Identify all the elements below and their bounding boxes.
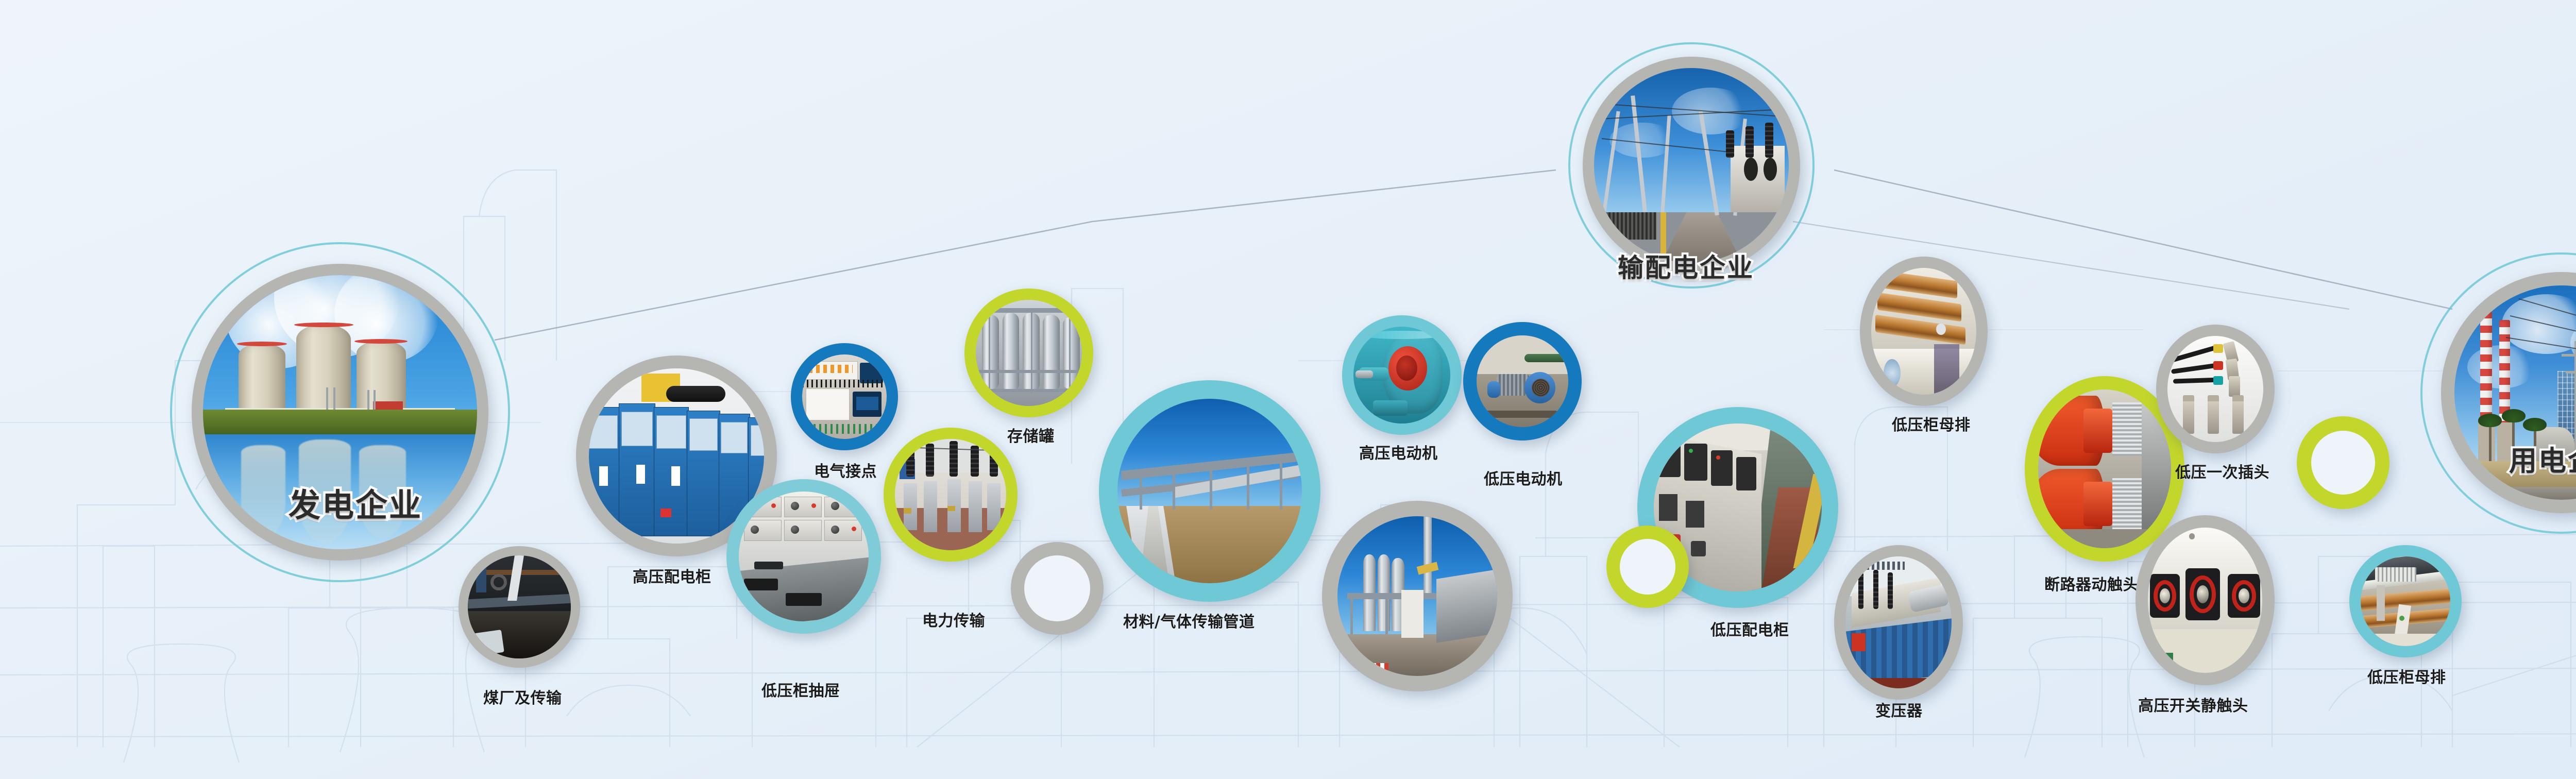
hub-transmission-photo xyxy=(1594,68,1789,263)
node-lv-drawer-photo xyxy=(739,492,869,621)
node-transformer-label: 变压器 xyxy=(1875,698,1923,721)
decor-ring-lime-1-hole xyxy=(1620,539,1675,595)
node-hv-motor-photo xyxy=(1353,327,1450,424)
node-lv-drawer-label: 低压柜抽屉 xyxy=(761,678,840,701)
node-power-transmission-label: 电力传输 xyxy=(922,608,985,631)
node-lv-primary-plug-label: 低压一次插头 xyxy=(2175,460,2269,482)
hub-generation-label: 发电企业 xyxy=(289,479,422,526)
node-power-transmission[interactable] xyxy=(884,428,1018,562)
decor-ring-lime-1 xyxy=(1606,526,1689,608)
decor-ring-grey-1-hole xyxy=(1024,555,1090,621)
node-coal-plant[interactable] xyxy=(459,546,580,668)
node-material-pipeline-label: 材料/气体传输管道 xyxy=(1123,609,1255,632)
node-lv-primary-plug[interactable] xyxy=(2156,325,2275,453)
node-lv-drawer[interactable] xyxy=(726,479,881,634)
node-breaker-contact-photo xyxy=(2038,389,2171,548)
node-lv-busbar-right-photo xyxy=(2361,556,2450,646)
node-hv-static-contact-photo xyxy=(2148,528,2262,673)
node-lv-motor-label: 低压电动机 xyxy=(1484,466,1563,489)
node-lv-busbar-left-label: 低压柜母排 xyxy=(1892,412,1971,435)
node-breaker-contact-label: 断路器动触头 xyxy=(2044,572,2139,595)
node-coal-plant-label: 煤厂及传输 xyxy=(483,685,562,708)
decor-ring-lime-2 xyxy=(2297,416,2389,509)
node-lv-motor-photo xyxy=(1477,335,1568,427)
hub-consumption-label: 用电企业 xyxy=(2509,438,2576,479)
node-hv-static-contact-label: 高压开关静触头 xyxy=(2138,693,2248,716)
node-coal-plant-photo xyxy=(468,555,571,658)
node-hv-cabinet-label: 高压配电柜 xyxy=(633,564,711,587)
node-hv-motor-label: 高压电动机 xyxy=(1359,441,1438,463)
node-lv-primary-plug-photo xyxy=(2167,336,2263,442)
node-lv-dist-cabinet-label: 低压配电柜 xyxy=(1710,617,1789,640)
node-storage-tank-label: 存储罐 xyxy=(1007,424,1055,446)
node-transformer[interactable] xyxy=(1834,545,1963,700)
node-plant-unlabeled-photo xyxy=(1337,516,1497,676)
node-material-pipeline-photo xyxy=(1117,399,1302,583)
node-electrical-contact[interactable] xyxy=(791,343,898,450)
node-transformer-photo xyxy=(1845,556,1952,688)
node-lv-busbar-left[interactable] xyxy=(1860,257,1988,406)
hub-transmission-label: 输配电企业 xyxy=(1618,247,1754,284)
node-plant-unlabeled[interactable] xyxy=(1322,501,1513,691)
node-material-pipeline[interactable] xyxy=(1099,380,1320,602)
infographic-canvas: 发电企业 煤厂及传输 xyxy=(0,0,2576,779)
node-lv-busbar-right-label: 低压柜母排 xyxy=(2367,665,2446,687)
node-lv-motor[interactable] xyxy=(1463,322,1582,441)
node-hv-motor[interactable] xyxy=(1342,315,1462,435)
node-storage-tank-photo xyxy=(976,300,1082,406)
decor-ring-lime-2-hole xyxy=(2311,431,2375,495)
node-lv-busbar-left-photo xyxy=(1871,268,1976,395)
node-electrical-contact-photo xyxy=(802,354,887,439)
node-power-transmission-photo xyxy=(895,439,1006,550)
node-electrical-contact-label: 电气接点 xyxy=(814,459,877,481)
hub-transmission[interactable] xyxy=(1583,57,1800,274)
decor-ring-grey-1 xyxy=(1011,542,1104,635)
node-hv-static-contact[interactable] xyxy=(2136,515,2275,685)
node-lv-busbar-right[interactable] xyxy=(2349,545,2462,657)
node-storage-tank[interactable] xyxy=(964,289,1093,417)
